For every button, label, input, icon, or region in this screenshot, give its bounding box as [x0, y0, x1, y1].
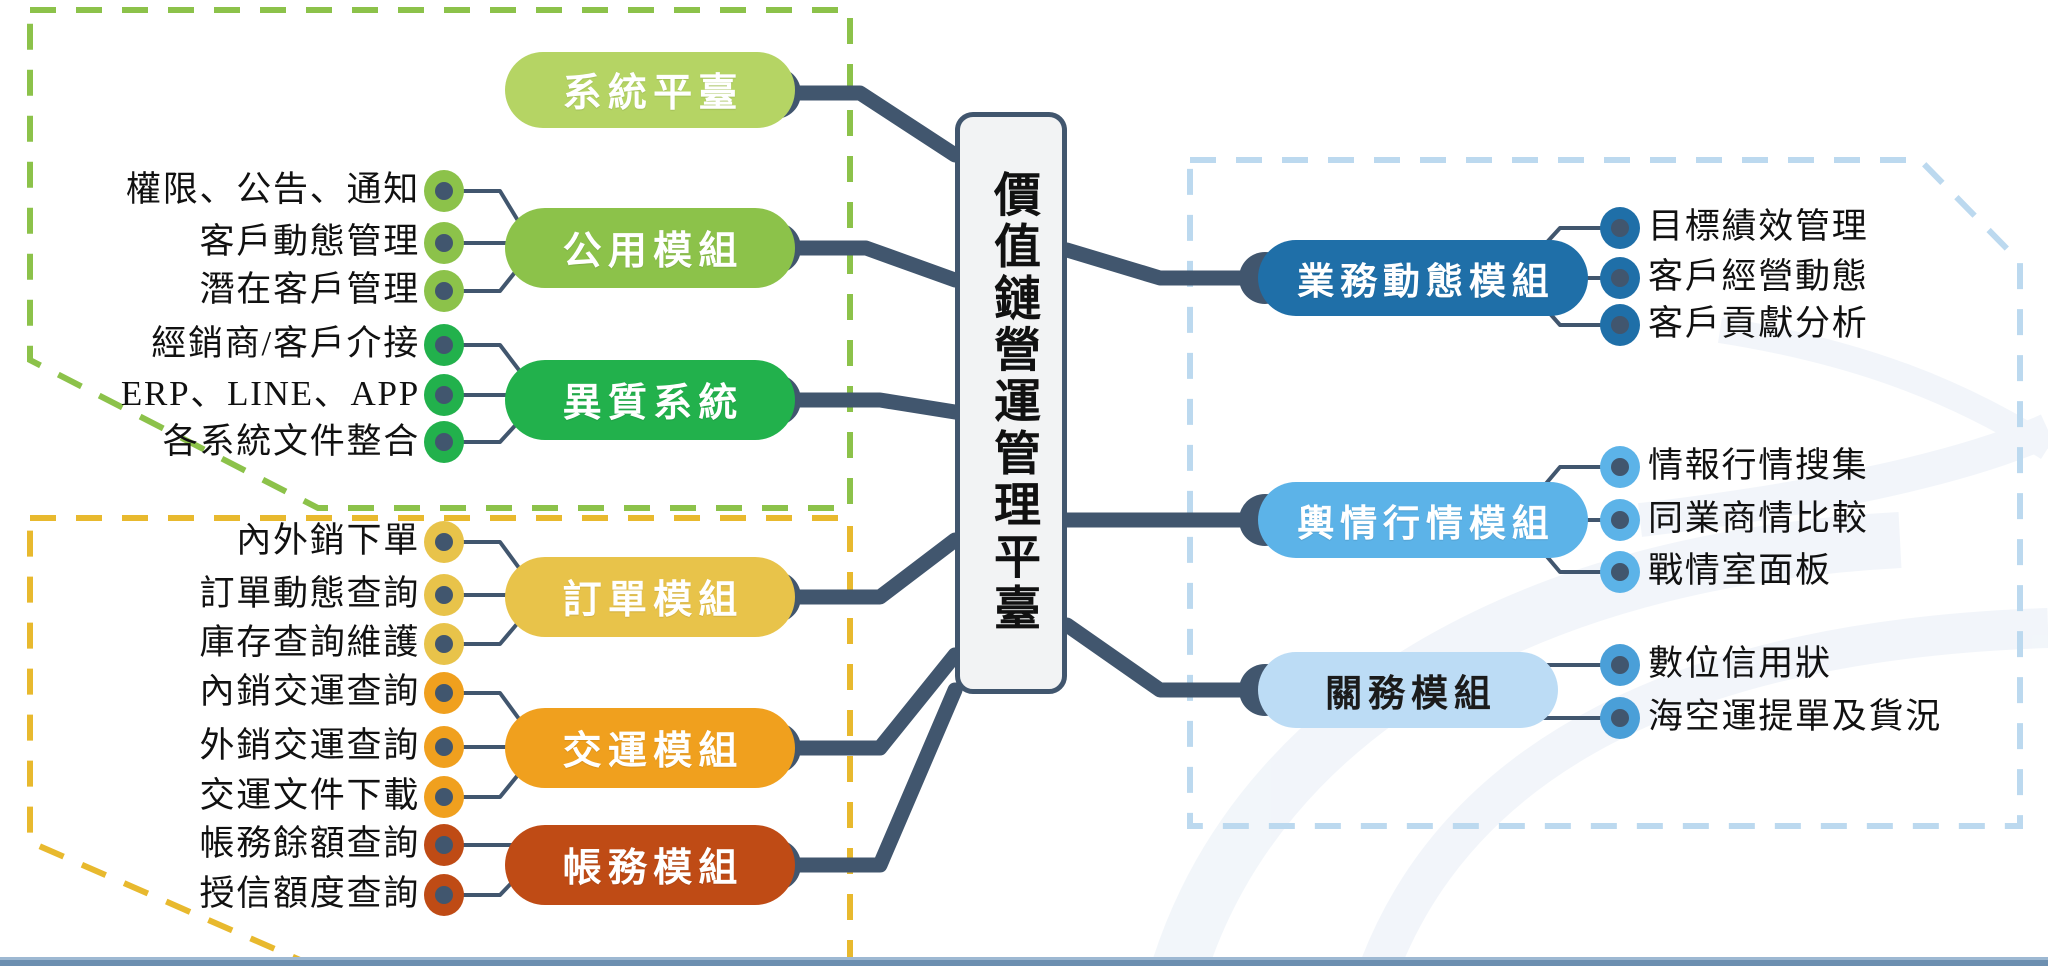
- center-node[interactable]: 價值鏈營運管理平臺: [955, 112, 1067, 694]
- module-hetero-system[interactable]: 異質系統: [505, 360, 795, 440]
- module-customs-module[interactable]: 關務模組: [1258, 652, 1558, 728]
- leaf-label: 外銷交運查詢: [20, 728, 420, 763]
- module-market-module[interactable]: 輿情行情模組: [1258, 482, 1588, 558]
- leaf-label: 庫存查詢維護: [20, 625, 420, 660]
- leaf-label: 同業商情比較: [1648, 501, 1869, 536]
- leaf-label: 帳務餘額查詢: [20, 826, 420, 861]
- module-label: 輿情行情模組: [1291, 493, 1554, 547]
- module-transport-module[interactable]: 交運模組: [505, 708, 795, 788]
- module-label: 交運模組: [556, 720, 743, 776]
- module-common-module[interactable]: 公用模組: [505, 208, 795, 288]
- leaf-label: 客戶貢獻分析: [1648, 306, 1869, 341]
- module-order-module[interactable]: 訂單模組: [505, 557, 795, 637]
- leaf-label: 訂單動態查詢: [20, 576, 420, 611]
- module-label: 公用模組: [556, 220, 743, 276]
- leaf-label: ERP、LINE、APP: [20, 376, 420, 411]
- leaf-label: 各系統文件整合: [20, 424, 420, 459]
- module-label: 關務模組: [1319, 663, 1497, 717]
- center-node-label: 價值鏈營運管理平臺: [987, 170, 1035, 635]
- leaf-label: 潛在客戶管理: [20, 272, 420, 307]
- leaf-label: 數位信用狀: [1648, 646, 1832, 681]
- leaf-label: 海空運提單及貨況: [1648, 699, 1942, 734]
- module-account-module[interactable]: 帳務模組: [505, 825, 795, 905]
- leaf-label: 權限、公告、通知: [20, 172, 420, 207]
- leaf-label: 客戶動態管理: [20, 224, 420, 259]
- module-label: 系統平臺: [556, 62, 743, 118]
- leaf-label: 內外銷下單: [20, 523, 420, 558]
- leaf-label: 授信額度查詢: [20, 876, 420, 911]
- module-label: 帳務模組: [556, 837, 743, 893]
- module-business-module[interactable]: 業務動態模組: [1258, 240, 1588, 316]
- leaf-label: 交運文件下載: [20, 778, 420, 813]
- leaf-label: 情報行情搜集: [1648, 448, 1869, 483]
- module-sys-platform[interactable]: 系統平臺: [505, 52, 795, 128]
- module-label: 訂單模組: [556, 569, 743, 625]
- leaf-label: 客戶經營動態: [1648, 259, 1869, 294]
- diagram-canvas: 系統平臺 公用模組 異質系統 訂單模組 交運模組 帳務模組 業務動態模組 輿情行…: [0, 0, 2048, 966]
- module-label: 異質系統: [556, 372, 743, 428]
- leaf-label: 經銷商/客戶介接: [20, 326, 420, 361]
- leaf-label: 內銷交運查詢: [20, 674, 420, 709]
- leaf-label: 目標績效管理: [1648, 209, 1869, 244]
- module-label: 業務動態模組: [1291, 251, 1554, 305]
- leaf-label: 戰情室面板: [1648, 553, 1832, 588]
- bottom-rule: [0, 957, 2048, 966]
